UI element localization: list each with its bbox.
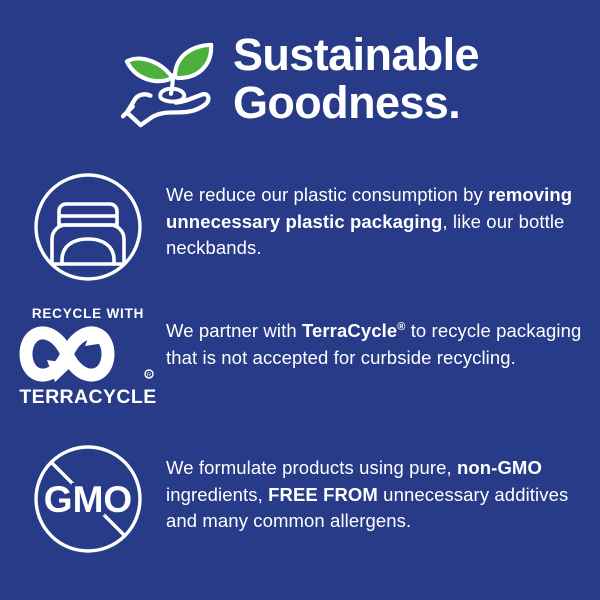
page-title: Sustainable Goodness. [233, 31, 479, 127]
header: Sustainable Goodness. [0, 28, 600, 130]
terracycle-logo: RECYCLE WITH R TERRACYCLE [15, 306, 161, 409]
feature-icon-slot: GMO [0, 444, 166, 554]
sustainable-goodness-panel: Sustainable Goodness. We reduce our plas… [0, 0, 600, 600]
feature-row-terracycle: RECYCLE WITH R TERRACYCLE We partner wit… [0, 306, 600, 409]
terracycle-bottom-label: TERRACYCLE [19, 386, 156, 409]
no-gmo-label: GMO [44, 479, 132, 520]
feature-description-3: We formulate products using pure, non-GM… [166, 455, 584, 535]
feature-row-plastic-reduction: We reduce our plastic consumption by rem… [0, 172, 600, 282]
feature-row-non-gmo: GMO We formulate products using pure, no… [0, 444, 600, 554]
svg-text:R: R [147, 373, 152, 379]
feature-text-slot: We reduce our plastic consumption by rem… [166, 172, 600, 262]
feature-icon-slot [0, 172, 166, 282]
terracycle-top-label: RECYCLE WITH [32, 306, 144, 321]
bottle-neckband-icon [33, 172, 143, 282]
feature-icon-slot: RECYCLE WITH R TERRACYCLE [0, 306, 166, 409]
feature-text-slot: We formulate products using pure, non-GM… [166, 444, 600, 535]
no-gmo-icon: GMO [33, 444, 143, 554]
feature-description-2: We partner with TerraCycle® to recycle p… [166, 318, 584, 371]
infinity-recycle-icon: R [19, 324, 157, 384]
hand-holding-sprout-icon [121, 34, 219, 130]
feature-description-1: We reduce our plastic consumption by rem… [166, 182, 584, 262]
feature-text-slot: We partner with TerraCycle® to recycle p… [166, 306, 600, 371]
